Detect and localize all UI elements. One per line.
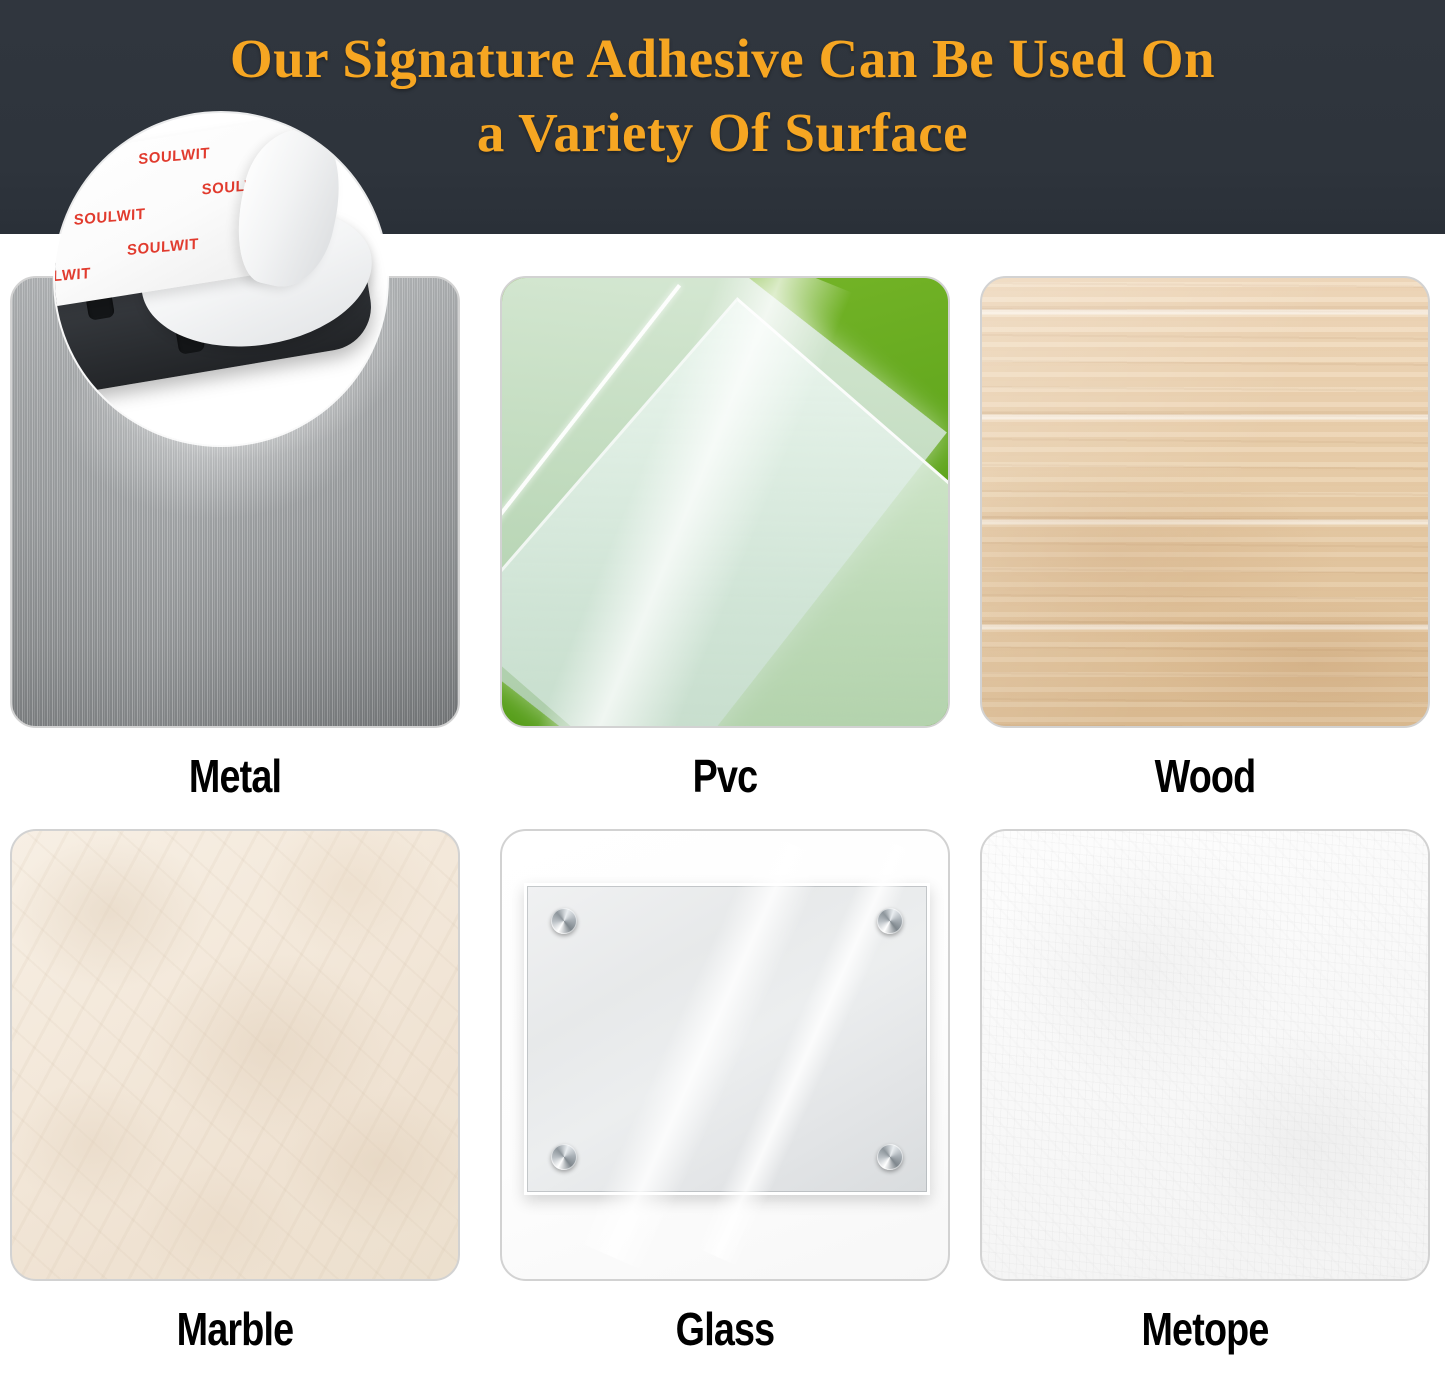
surface-tile-marble: Marble: [10, 829, 460, 1355]
surface-label-marble: Marble: [51, 1303, 420, 1355]
glass-panel: [524, 883, 930, 1195]
surface-tile-pvc: Pvc: [500, 276, 950, 802]
standoff-screw-icon: [877, 1144, 903, 1170]
swatch-cream-travertine-marble: [10, 829, 460, 1281]
brand-text: SOULWIT: [55, 177, 82, 200]
surface-label-wood: Wood: [1021, 750, 1390, 802]
brand-text: SOULWIT: [138, 145, 210, 168]
swatch-light-maple-wood-planks: [980, 276, 1430, 728]
swatch-white-textured-wall-plaster: [980, 829, 1430, 1281]
surface-tile-glass: Glass: [500, 829, 950, 1355]
surface-label-metal: Metal: [51, 750, 420, 802]
surface-label-pvc: Pvc: [541, 750, 910, 802]
surface-tile-metope: Metope: [980, 829, 1430, 1355]
standoff-screw-icon: [551, 1144, 577, 1170]
surface-label-glass: Glass: [541, 1303, 910, 1355]
adhesive-hook-closeup-inset: SOULWIT SOULWIT SOULWIT SOULWIT SOULWIT …: [55, 113, 387, 445]
standoff-screw-icon: [551, 908, 577, 934]
swatch-mounted-glass-panel: [500, 829, 950, 1281]
surface-tile-wood: Wood: [980, 276, 1430, 802]
brand-text: SOULWIT: [74, 206, 146, 229]
standoff-screw-icon: [877, 908, 903, 934]
brand-text: SOULWIT: [55, 265, 91, 288]
brand-text: SOULWIT: [127, 236, 199, 259]
swatch-clear-pvc-sheets-on-green: [500, 276, 950, 728]
surface-label-metope: Metope: [1021, 1303, 1390, 1355]
surface-row: Marble Glass Metope: [0, 829, 1445, 1382]
